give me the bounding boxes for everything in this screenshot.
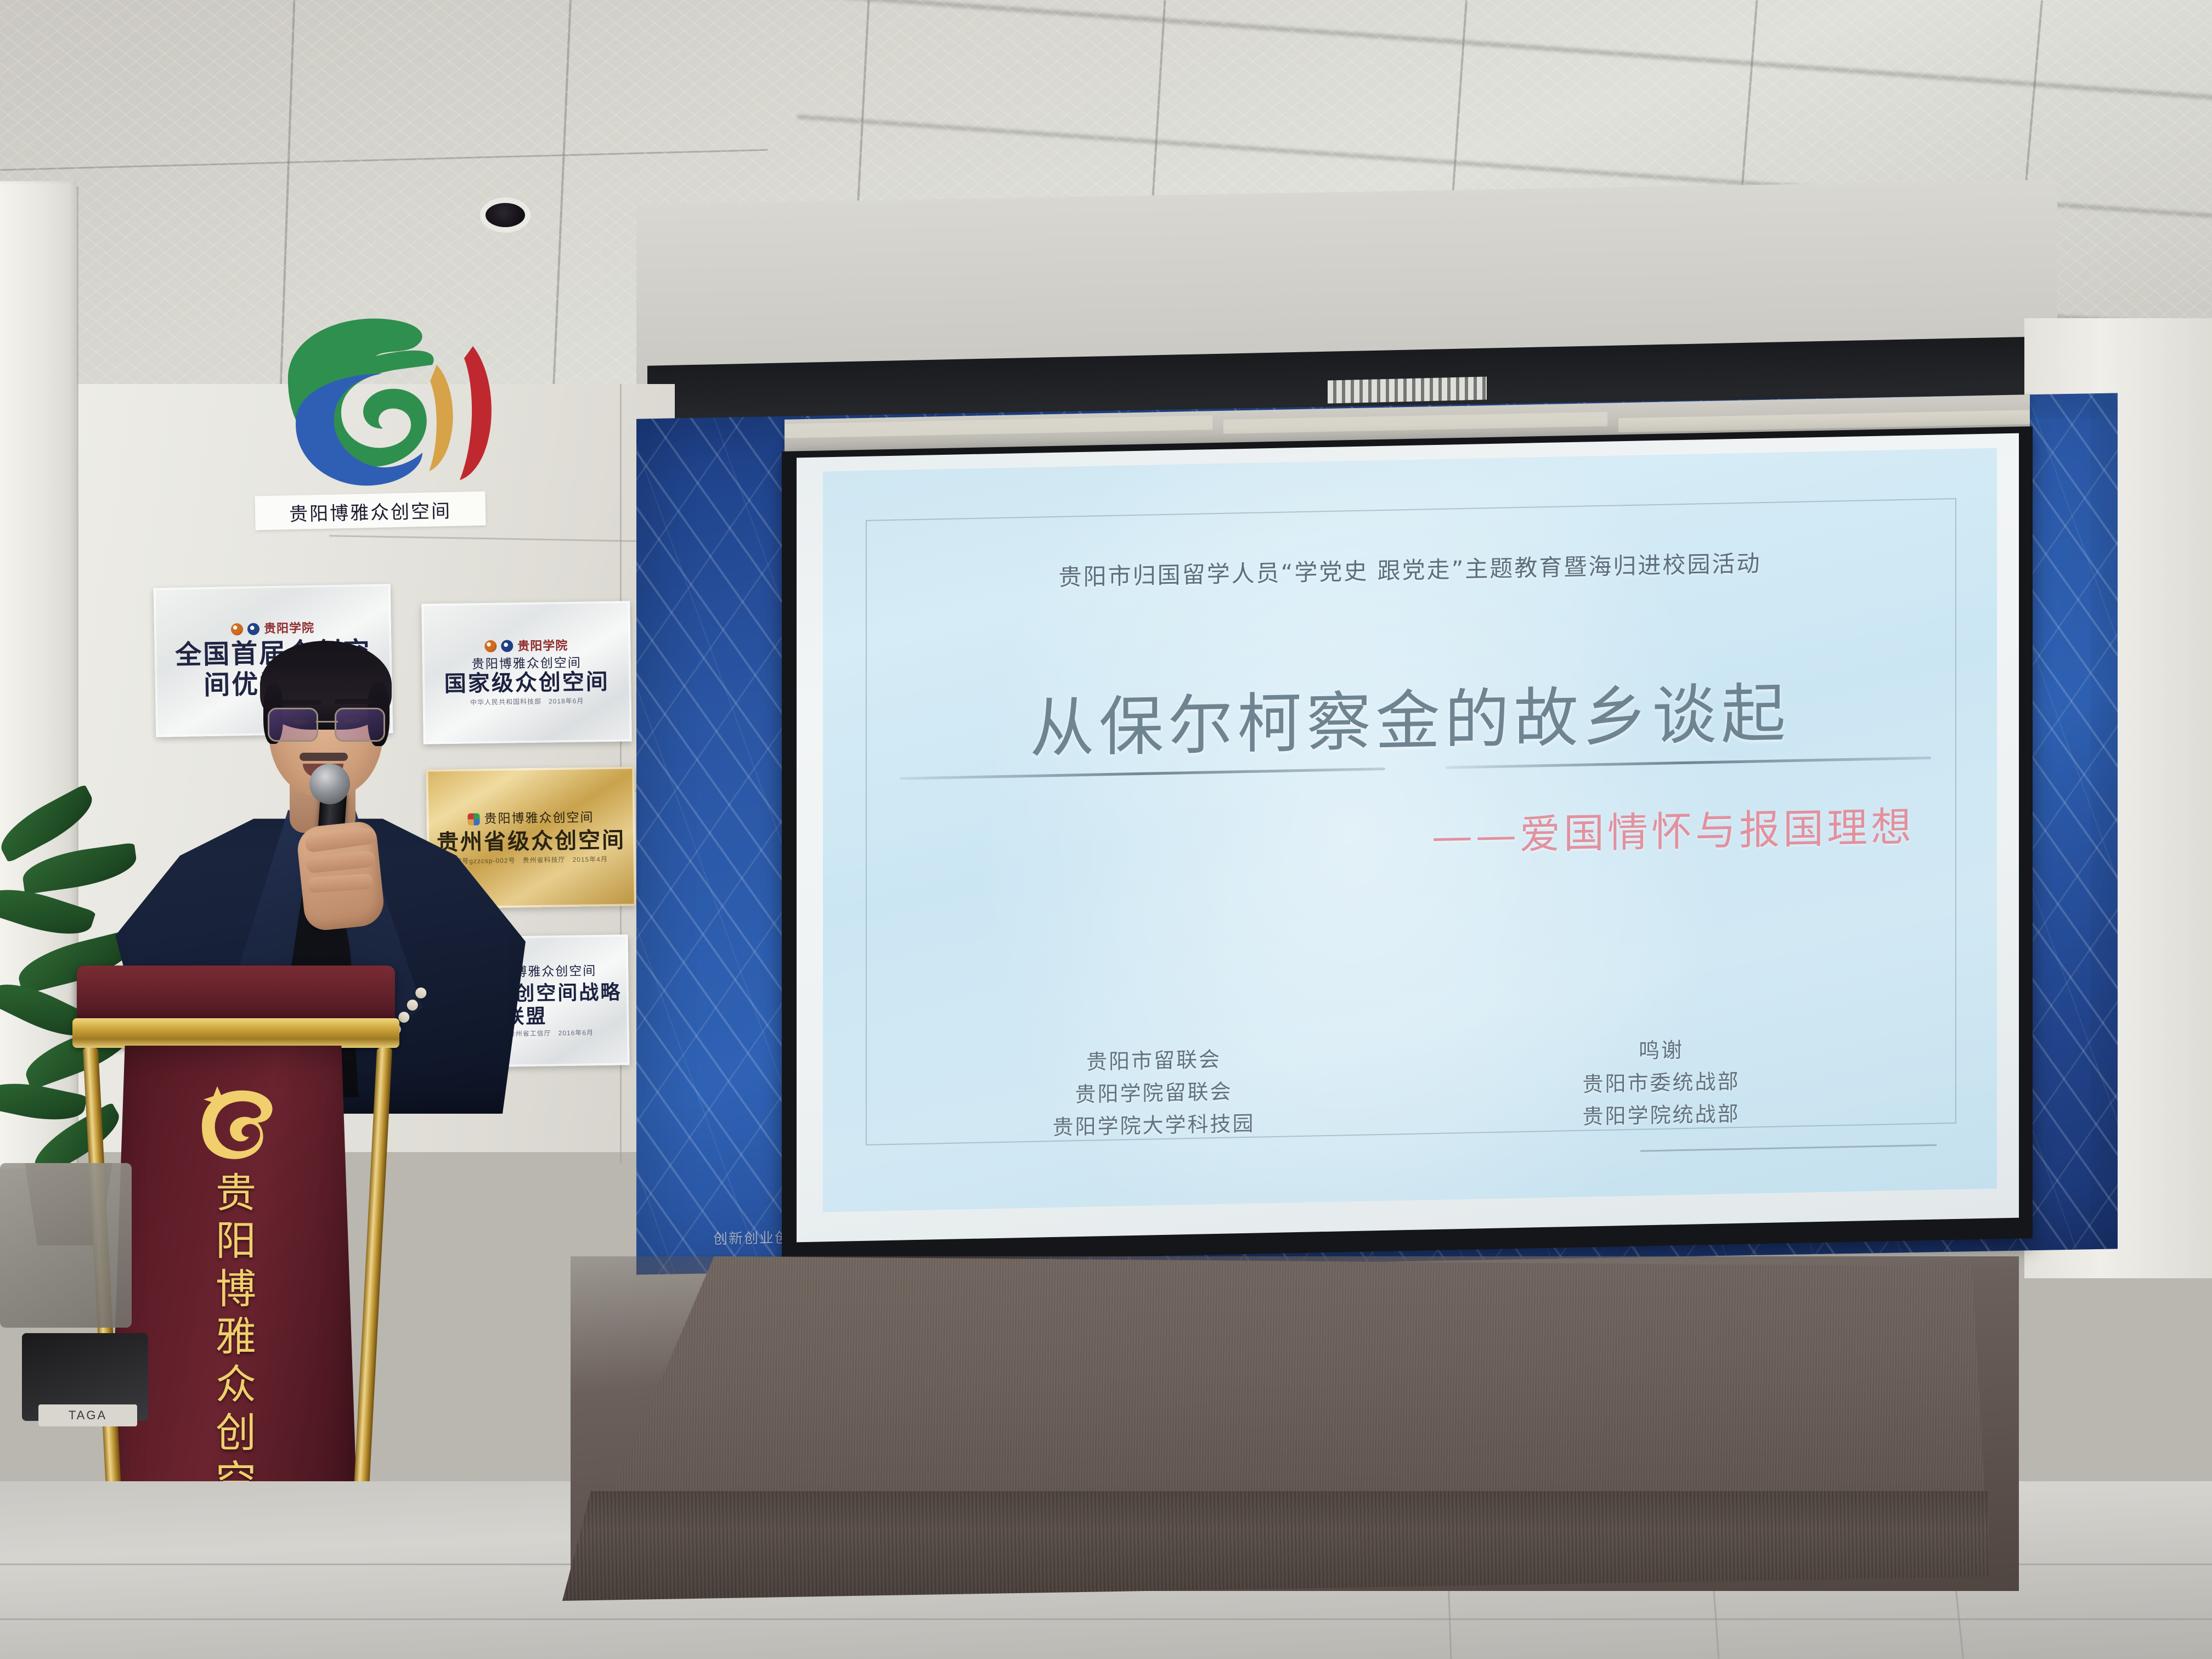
ceiling-speaker-icon <box>486 203 525 227</box>
podium-swirl-emblem-icon <box>192 1083 280 1165</box>
eyeglasses-icon <box>267 708 386 738</box>
speaker-moustache <box>300 753 348 761</box>
ack-line-2: 贵阳学院统战部 <box>1582 1098 1740 1133</box>
slide-footer-acknowledgements: 鸣谢 贵阳市委统战部 贵阳学院统战部 <box>1582 1033 1740 1133</box>
slide-subtitle: ——爱国情怀与报国理想 <box>1432 794 1915 863</box>
presentation-slide: 贵阳市归国留学人员“学党史 跟党走”主题教育暨海归进校园活动 从保尔柯察金的故乡… <box>823 448 1997 1212</box>
podium-char-1: 贵 <box>184 1170 288 1217</box>
podium-char-4: 雅 <box>184 1313 288 1361</box>
podium-char-6: 创 <box>184 1409 288 1457</box>
slide-footer-organizers: 贵阳市留联会 贵阳学院留联会 贵阳学院大学科技园 <box>1052 1043 1255 1144</box>
podium-char-5: 众 <box>184 1361 288 1409</box>
podium-char-3: 博 <box>184 1266 288 1313</box>
equipment-brand-label: TAGA <box>38 1404 137 1426</box>
podium-char-2: 阳 <box>184 1217 288 1265</box>
lens-left <box>268 708 318 742</box>
air-vent-grille <box>1328 376 1487 403</box>
stage-deck-carpet <box>603 1256 1986 1514</box>
organizer-line-2: 贵阳学院留联会 <box>1052 1075 1255 1111</box>
slide-footer-rule <box>1640 1144 1937 1152</box>
incubator-logo-icon <box>258 299 516 496</box>
podium-gold-band <box>72 1018 399 1048</box>
ack-line-1: 贵阳市委统战部 <box>1582 1065 1740 1101</box>
slide-footer: 贵阳市留联会 贵阳学院留联会 贵阳学院大学科技园 鸣谢 贵阳市委统战部 贵阳学院… <box>889 1029 1937 1147</box>
organizer-line-1: 贵阳市留联会 <box>1052 1043 1255 1079</box>
lens-right <box>335 708 385 742</box>
organizer-line-3: 贵阳学院大学科技园 <box>1052 1108 1255 1144</box>
side-equipment-case <box>0 1163 132 1328</box>
wall-logo-caption: 贵阳博雅众创空间 <box>255 492 486 531</box>
podium-top-surface <box>77 966 395 1026</box>
glasses-bridge <box>316 721 338 723</box>
ack-heading: 鸣谢 <box>1582 1033 1740 1069</box>
lecture-hall-photo: 创新创业创未来 人才引领发展 大众创业万众创新 贵阳市归国留学人员“学党史 跟党… <box>0 0 2212 1659</box>
